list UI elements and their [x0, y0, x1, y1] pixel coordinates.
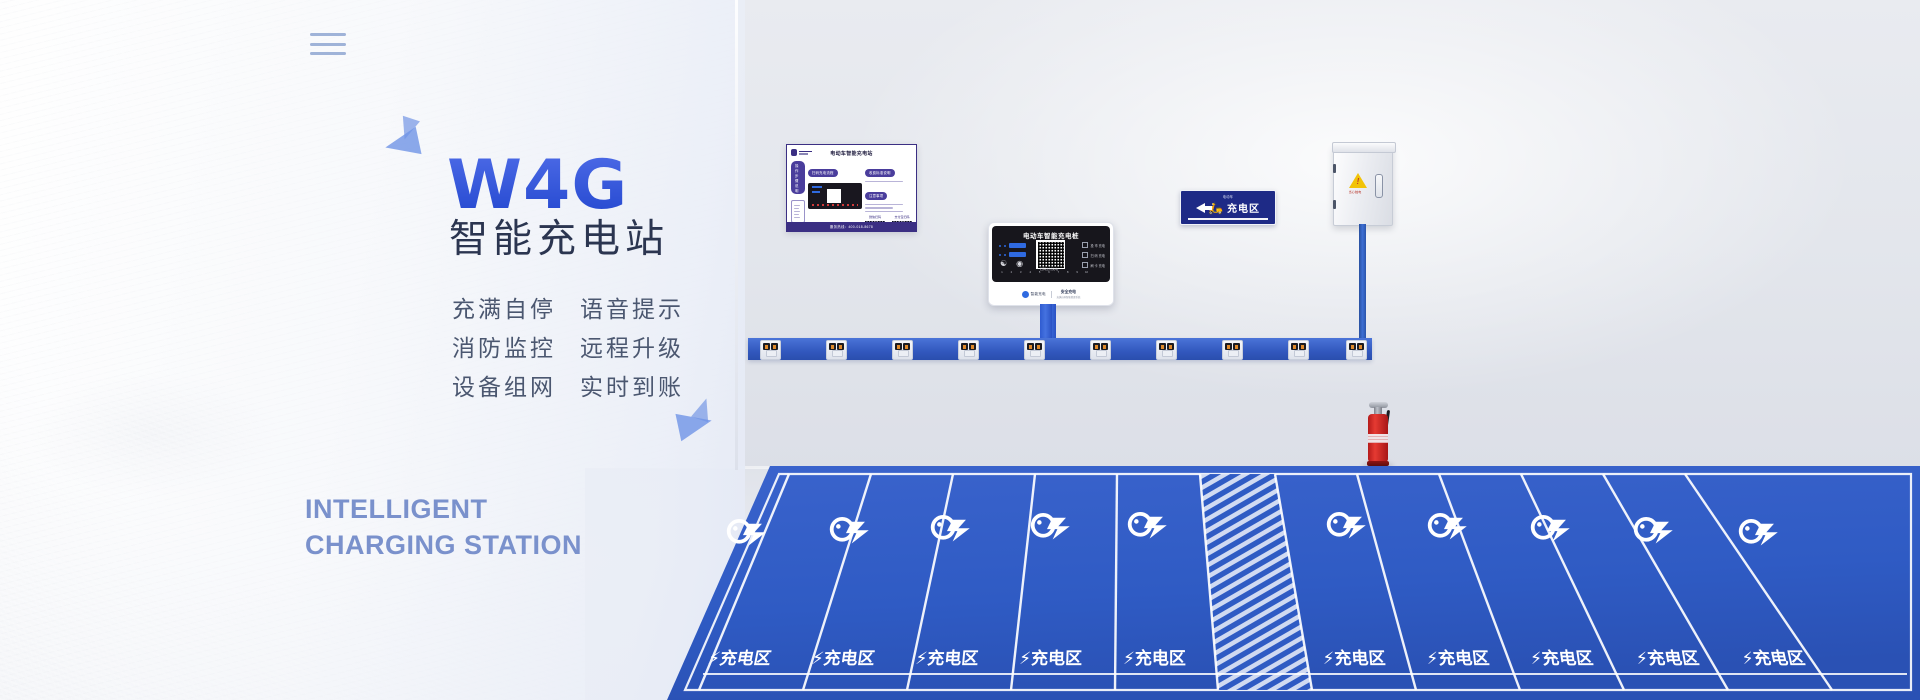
port[interactable]: 3: [1018, 260, 1024, 278]
fire-extinguisher-icon: [1366, 400, 1390, 466]
brand2-subtitle: 充满自停智能管理系统: [1056, 295, 1080, 299]
bay-label: ⚡充电区: [1425, 648, 1490, 668]
poster-section-label: 扫码充电流程: [808, 169, 838, 177]
cabinet-hinge: [1333, 200, 1336, 209]
bay-label: ⚡充电区: [810, 648, 876, 668]
port[interactable]: 10: [1084, 260, 1090, 278]
poster-text-line: [865, 181, 903, 182]
feature-item: 充满自停: [452, 294, 556, 325]
hero-subheadline: 智能充电站: [449, 218, 669, 263]
charging-pile-indicators: [999, 243, 1026, 257]
poster-text-line: [794, 205, 800, 206]
wall-corner-seam: [735, 0, 738, 470]
hamburger-bar-1: [310, 33, 346, 36]
feature-item: 语音提示: [580, 294, 684, 325]
side-label: 投 币 充电: [1082, 242, 1105, 248]
feature-list: 充满自停 语音提示 消防监控 远程升级 设备组网 实时到账: [452, 294, 684, 403]
room-back-wall: [738, 0, 1920, 470]
indicator-row: [999, 252, 1026, 257]
port[interactable]: 2: [1008, 260, 1014, 278]
poster-section-label: 收费标准说明: [865, 169, 895, 177]
wall-socket[interactable]: [760, 340, 781, 360]
port[interactable]: 6: [1046, 260, 1052, 278]
feature-item: 远程升级: [580, 333, 684, 364]
poster-text-line: [794, 217, 800, 218]
poster-columns: 操作步骤说明 扫码充电流程 收费标准说明: [787, 157, 916, 232]
sign-label: 充电区: [1227, 200, 1260, 215]
poster-text-line: [794, 211, 800, 212]
poster-device-bar: [812, 191, 820, 193]
poster-device-screen: [827, 189, 841, 203]
port[interactable]: 9: [1074, 260, 1080, 278]
poster-text-line: [794, 208, 799, 209]
english-title: INTELLIGENT CHARGING STATION: [305, 492, 582, 564]
wall-socket[interactable]: [1024, 340, 1045, 360]
english-title-line2: CHARGING STATION: [305, 528, 582, 564]
wall-socket[interactable]: [1222, 340, 1243, 360]
hamburger-bar-2: [310, 43, 346, 46]
port[interactable]: 7: [1055, 260, 1061, 278]
wall-socket[interactable]: [958, 340, 979, 360]
poster-qr-label: 支付宝扫码: [892, 215, 912, 219]
charging-pile-brand-secondary: 安全充电 充满自停智能管理系统: [1056, 290, 1080, 299]
hero-headline: W4G: [447, 152, 628, 220]
indicator-row: [999, 243, 1026, 248]
parking-bays: ⚡充电区 ⚡充电区 ⚡充电区 ⚡充电区 ⚡充电区 ⚡充电区 ⚡充电区 ⚡充电区 …: [575, 466, 1920, 700]
wall-outlet-rail: [748, 338, 1372, 360]
electrical-cabinet: 当心触电: [1333, 146, 1393, 226]
poster-text-line: [865, 207, 893, 208]
bay-label: ⚡充电区: [1123, 648, 1186, 668]
bay-label: ⚡充电区: [1740, 648, 1807, 668]
poster-text-line: [865, 204, 903, 205]
english-title-line1: INTELLIGENT: [305, 494, 488, 524]
decorative-arrow-top: [385, 118, 431, 162]
high-voltage-warning-icon: [1349, 173, 1367, 188]
cabinet-top-cap: [1332, 142, 1396, 153]
parking-bays-svg: ⚡充电区 ⚡充电区 ⚡充电区 ⚡充电区 ⚡充电区 ⚡充电区 ⚡充电区 ⚡充电区 …: [575, 466, 1920, 700]
wall-socket[interactable]: [1156, 340, 1177, 360]
cabinet-warning-text: 当心触电: [1340, 190, 1370, 194]
bay-label: ⚡充电区: [915, 648, 980, 668]
side-label: 扫 码 充电: [1082, 252, 1105, 258]
arrow-triangle-large-icon: [382, 127, 421, 161]
poster-logo-text: [799, 151, 812, 155]
direction-sign: 电动车 🛵 充电区: [1180, 190, 1276, 225]
rail-drop-conduit: [1040, 304, 1052, 340]
poster-logo-mark-icon: [791, 149, 797, 156]
brand-mark-icon: [1022, 291, 1029, 298]
bay-label: ⚡充电区: [1019, 648, 1083, 668]
port[interactable]: 5: [1037, 260, 1043, 278]
bay-label: ⚡充电区: [1634, 648, 1700, 668]
cabinet-handle[interactable]: [1375, 174, 1383, 198]
cabinet-hinge: [1333, 164, 1336, 173]
port[interactable]: 8: [1065, 260, 1071, 278]
bay-label: ⚡充电区: [706, 648, 773, 668]
charging-pile-panel: 电动车智能充电桩 扫码支付充电 ☯ ◉ 投 币 充电 扫 码 充电 刷 卡 充电: [992, 226, 1110, 282]
cabinet-conduit: [1359, 224, 1366, 348]
charging-pile-ports: 1 2 3 4 5 6 7 8 9 10: [999, 260, 1090, 278]
charging-pile: 电动车智能充电桩 扫码支付充电 ☯ ◉ 投 币 充电 扫 码 充电 刷 卡 充电: [988, 222, 1112, 304]
feature-item: 消防监控: [452, 333, 556, 364]
sign-small-text: 电动车: [1223, 194, 1233, 199]
charging-pile-brand: 智能充电: [1022, 291, 1046, 298]
wall-socket[interactable]: [1288, 340, 1309, 360]
arrow-left-icon: [1196, 203, 1205, 213]
poster-device-illustration: [808, 183, 862, 209]
hamburger-bar-3: [310, 52, 346, 55]
poster-logo: [791, 149, 812, 156]
bay-label: ⚡充电区: [1322, 648, 1386, 668]
wall-socket[interactable]: [826, 340, 847, 360]
poster-text-line: [865, 211, 903, 212]
poster-device-bar: [812, 186, 822, 188]
wall-poster: 电动车智能充电站 操作步骤说明 扫码充电流程: [786, 144, 917, 232]
wall-socket[interactable]: [1346, 340, 1367, 360]
poster-steps-box: [791, 200, 805, 224]
feature-item: 实时到账: [580, 372, 684, 403]
port[interactable]: 4: [1027, 260, 1033, 278]
charging-pile-title: 电动车智能充电桩: [992, 226, 1110, 240]
sign-underline: [1188, 218, 1268, 220]
charging-pile-body: 电动车智能充电桩 扫码支付充电 ☯ ◉ 投 币 充电 扫 码 充电 刷 卡 充电: [988, 222, 1114, 306]
wall-socket[interactable]: [892, 340, 913, 360]
poster-section-label: 注意事项: [865, 192, 887, 200]
port[interactable]: 1: [999, 260, 1005, 278]
wall-socket[interactable]: [1090, 340, 1111, 360]
bay-label: ⚡充电区: [1529, 648, 1595, 668]
hamburger-menu-icon[interactable]: [310, 33, 346, 55]
poster-qr-label: 微信扫码: [865, 215, 885, 219]
brand-text: 智能充电: [1031, 292, 1046, 297]
poster-device-leds: [812, 204, 858, 206]
charging-pile-footer: 智能充电 安全充电 充满自停智能管理系统: [989, 285, 1113, 303]
feature-item: 设备组网: [452, 372, 556, 403]
hero-banner: W4G 智能充电站 充满自停 语音提示 消防监控 远程升级 设备组网 实时到账 …: [0, 0, 1920, 700]
poster-section-label: 操作步骤说明: [791, 161, 805, 194]
divider: [1051, 291, 1052, 298]
poster-footer: 服务热线：400-018-8678: [787, 222, 916, 231]
poster-text-line: [794, 214, 799, 215]
arrow-triangle-large-icon: [675, 407, 714, 441]
